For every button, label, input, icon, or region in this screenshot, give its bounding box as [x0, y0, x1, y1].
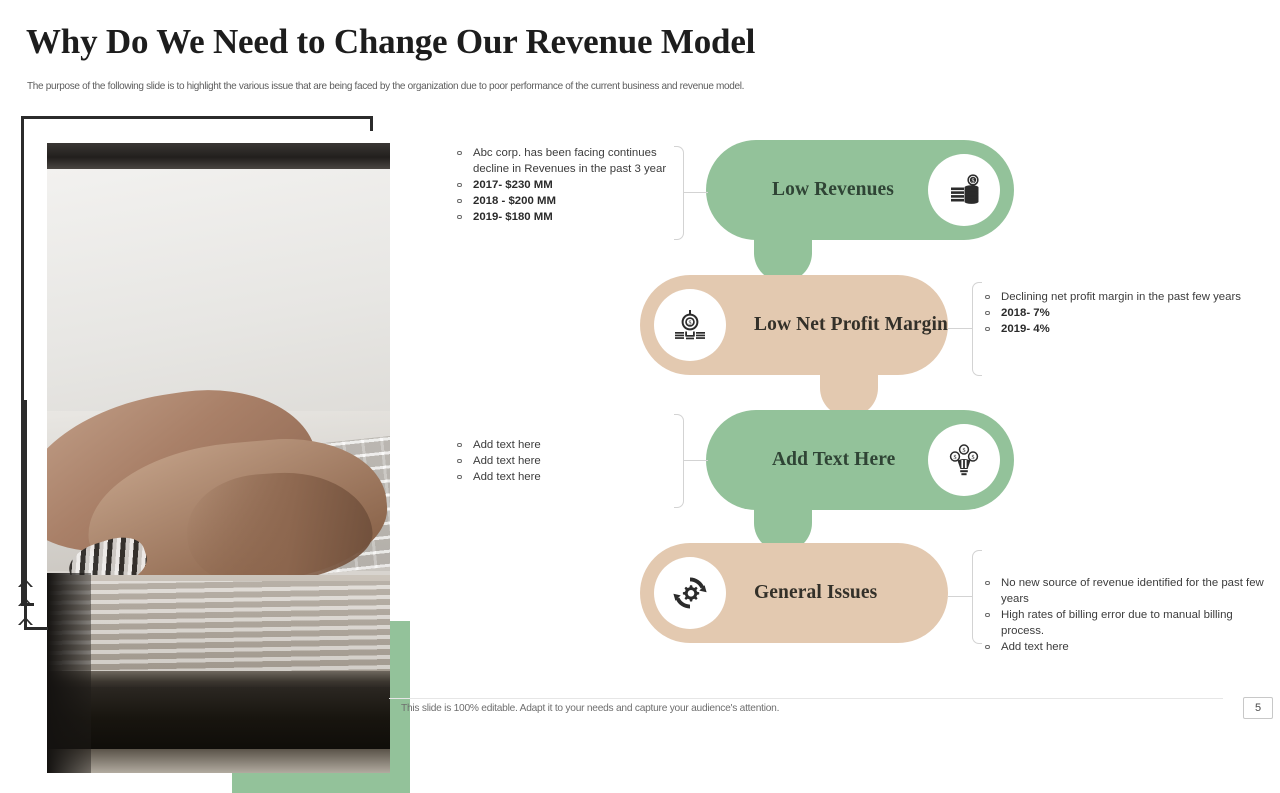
list-item: Add text here: [454, 469, 684, 485]
photo-notebook-shadow: [47, 749, 390, 773]
list-item: High rates of billing error due to manua…: [982, 607, 1267, 639]
list-item: Add text here: [454, 437, 684, 453]
step-pill-low-net-profit-margin[interactable]: $ Low Net Profit Margin: [640, 275, 948, 375]
bullets-step-4: No new source of revenue identified for …: [982, 575, 1267, 655]
bullets-step-1: Abc corp. has been facing continues decl…: [454, 145, 684, 225]
connector-stub-step-1: [684, 192, 708, 193]
step-pill-add-text-here[interactable]: Add Text Here $ $ $: [706, 410, 1014, 510]
connector-stub-step-2: [948, 328, 972, 329]
bullets-step-3: Add text here Add text here Add text her…: [454, 437, 684, 485]
list-item: 2017- $230 MM: [454, 177, 684, 193]
connector-stub-step-4: [948, 596, 972, 597]
gear-refresh-icon: [654, 557, 726, 629]
step-label: Add Text Here: [772, 449, 895, 471]
connector-bracket-step-4: [972, 550, 982, 644]
list-item: Declining net profit margin in the past …: [982, 289, 1262, 305]
list-item: No new source of revenue identified for …: [982, 575, 1267, 607]
step-label: Low Net Profit Margin: [754, 314, 948, 336]
step-pill-low-revenues[interactable]: Low Revenues: [706, 140, 1014, 240]
svg-text:$: $: [689, 319, 692, 326]
page-number-badge: 5: [1243, 697, 1273, 719]
svg-text:$: $: [972, 178, 975, 185]
list-item: Abc corp. has been facing continues decl…: [454, 145, 684, 177]
step-label: Low Revenues: [772, 179, 894, 201]
idea-bulb-coins-icon: $ $ $: [928, 424, 1000, 496]
step-label: General Issues: [754, 582, 877, 604]
profit-target-icon: $: [654, 289, 726, 361]
bullets-step-2: Declining net profit margin in the past …: [982, 289, 1262, 337]
svg-text:$: $: [972, 454, 975, 461]
list-item: 2019- 4%: [982, 321, 1262, 337]
list-item: 2018- 7%: [982, 305, 1262, 321]
svg-text:$: $: [963, 447, 966, 454]
list-item: 2019- $180 MM: [454, 209, 684, 225]
list-item: Add text here: [454, 453, 684, 469]
step-pill-general-issues[interactable]: General Issues: [640, 543, 948, 643]
footer-divider: [389, 698, 1223, 699]
list-item: Add text here: [982, 639, 1267, 655]
money-stack-icon: $: [928, 154, 1000, 226]
list-item: 2018 - $200 MM: [454, 193, 684, 209]
footer-note: This slide is 100% editable. Adapt it to…: [401, 702, 779, 714]
svg-text:$: $: [954, 454, 957, 461]
connector-bracket-step-2: [972, 282, 982, 376]
connector-stub-step-3: [684, 460, 708, 461]
